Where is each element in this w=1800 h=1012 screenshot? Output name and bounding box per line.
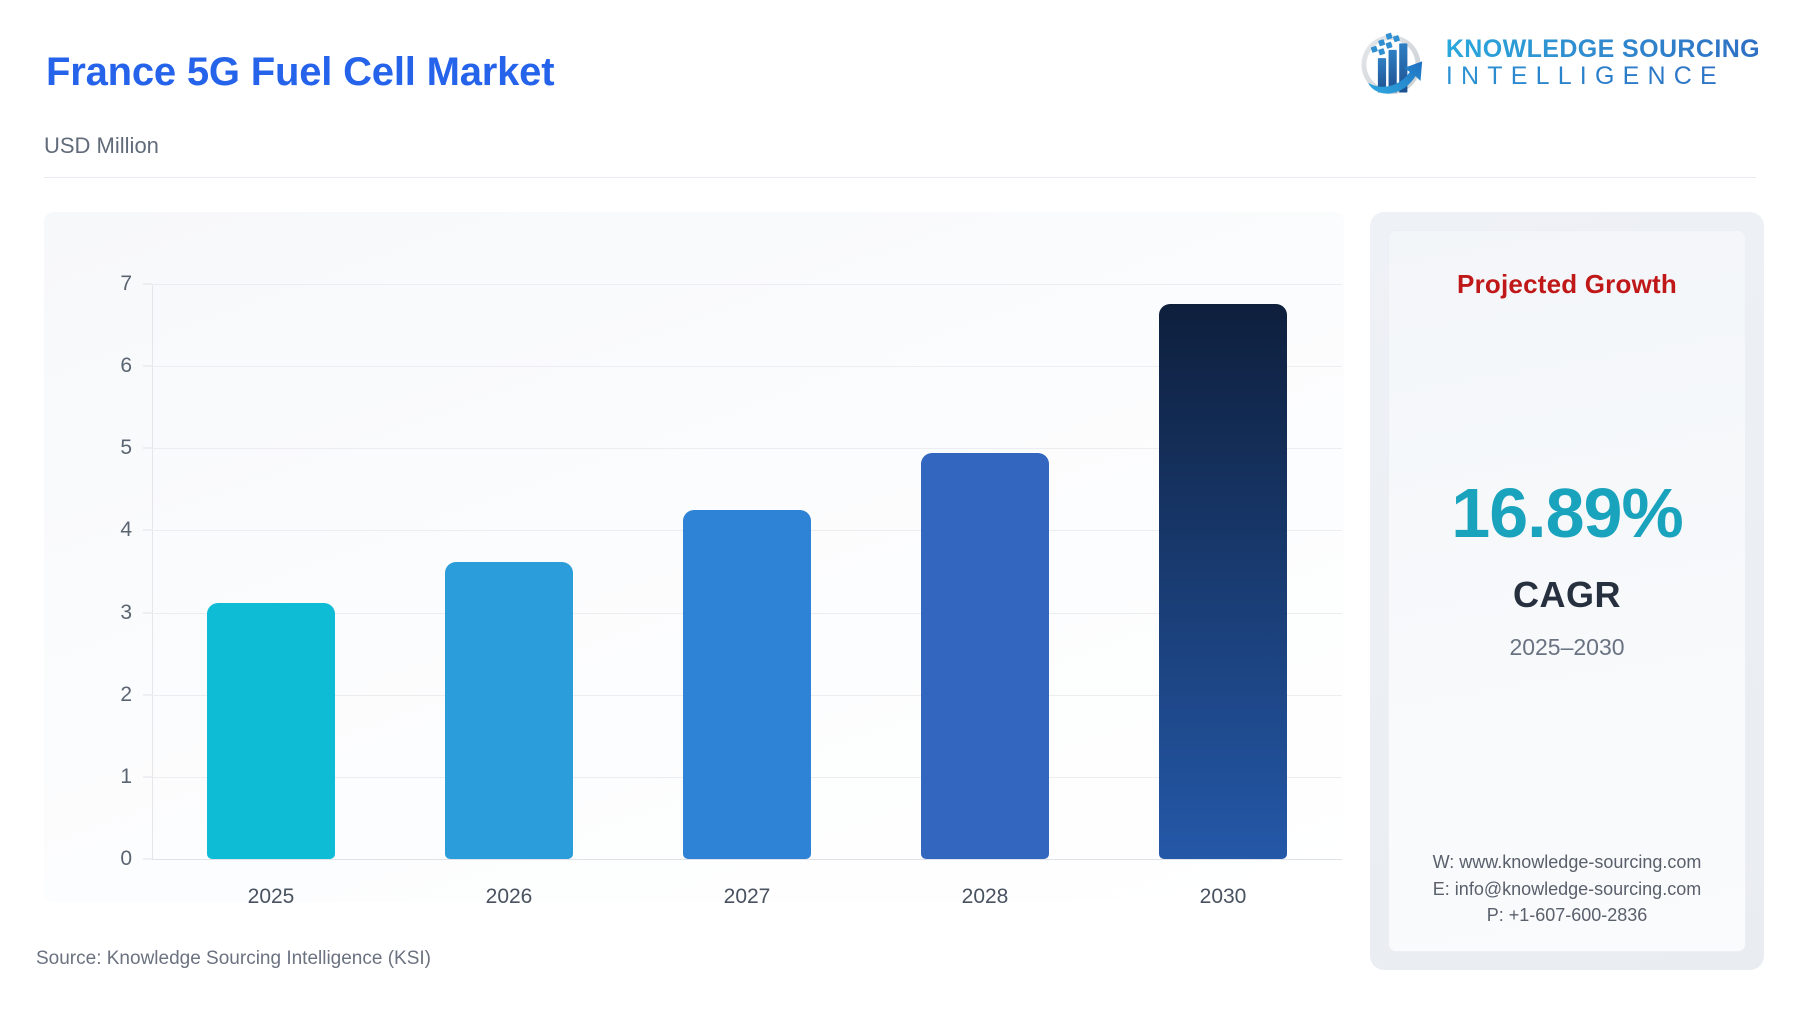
contact-website[interactable]: W: www.knowledge-sourcing.com — [1389, 849, 1745, 876]
y-tick-label: 1 — [120, 765, 132, 789]
header-divider — [44, 177, 1756, 178]
x-tick-label: 2028 — [866, 885, 1104, 909]
y-tick-mark — [143, 694, 152, 695]
bar-slot: 2030 — [1104, 284, 1342, 859]
logo-text-primary: KNOWLEDGE SOURCING — [1446, 36, 1760, 63]
bar-slot: 2025 — [152, 284, 390, 859]
bar-slot: 2027 — [628, 284, 866, 859]
x-tick-label: 2026 — [390, 885, 628, 909]
y-tick-label: 2 — [120, 683, 132, 707]
company-logo: KNOWLEDGE SOURCING INTELLIGENCE — [1350, 22, 1760, 104]
contact-block: W: www.knowledge-sourcing.com E: info@kn… — [1389, 849, 1745, 929]
y-tick-mark — [143, 366, 152, 367]
page-header: France 5G Fuel Cell Market USD Million — [0, 0, 1800, 180]
x-tick-label: 2030 — [1104, 885, 1342, 909]
bar-slot: 2026 — [390, 284, 628, 859]
logo-text-secondary: INTELLIGENCE — [1446, 63, 1760, 90]
y-tick-mark — [143, 776, 152, 777]
y-tick-mark — [143, 448, 152, 449]
y-tick-label: 5 — [120, 436, 132, 460]
chart-page: France 5G Fuel Cell Market USD Million — [0, 0, 1800, 1012]
y-tick-mark — [143, 284, 152, 285]
bar-2025[interactable] — [207, 603, 335, 859]
cagr-period: 2025–2030 — [1509, 634, 1624, 661]
y-tick-label: 6 — [120, 354, 132, 378]
bars-group: 20252026202720282030 — [152, 284, 1342, 859]
knowledge-sourcing-logo-mark — [1350, 22, 1432, 104]
source-note: Source: Knowledge Sourcing Intelligence … — [36, 948, 431, 970]
y-tick-label: 0 — [120, 847, 132, 871]
cagr-label: CAGR — [1513, 574, 1621, 616]
bar-2028[interactable] — [921, 453, 1049, 859]
gridline — [152, 859, 1342, 860]
y-tick-mark — [143, 612, 152, 613]
page-subtitle: USD Million — [44, 133, 159, 159]
contact-email[interactable]: E: info@knowledge-sourcing.com — [1389, 876, 1745, 903]
bar-2027[interactable] — [683, 510, 811, 859]
x-tick-label: 2027 — [628, 885, 866, 909]
plot-area: 01234567 20252026202720282030 — [152, 284, 1342, 859]
contact-phone: P: +1-607-600-2836 — [1389, 902, 1745, 929]
bar-2030[interactable] — [1159, 304, 1287, 859]
bar-slot: 2028 — [866, 284, 1104, 859]
y-tick-label: 4 — [120, 518, 132, 542]
y-tick-label: 3 — [120, 601, 132, 625]
chart-panel: 01234567 20252026202720282030 — [44, 212, 1344, 902]
y-tick-mark — [143, 859, 152, 860]
projected-growth-card-inner: Projected Growth 16.89% CAGR 2025–2030 W… — [1388, 230, 1746, 952]
x-tick-label: 2025 — [152, 885, 390, 909]
bar-2026[interactable] — [445, 562, 573, 859]
cagr-value: 16.89% — [1451, 478, 1682, 548]
y-tick-mark — [143, 530, 152, 531]
projected-growth-card: Projected Growth 16.89% CAGR 2025–2030 W… — [1370, 212, 1764, 970]
projected-growth-title: Projected Growth — [1457, 269, 1677, 300]
page-title: France 5G Fuel Cell Market — [46, 50, 554, 95]
y-tick-label: 7 — [120, 272, 132, 296]
